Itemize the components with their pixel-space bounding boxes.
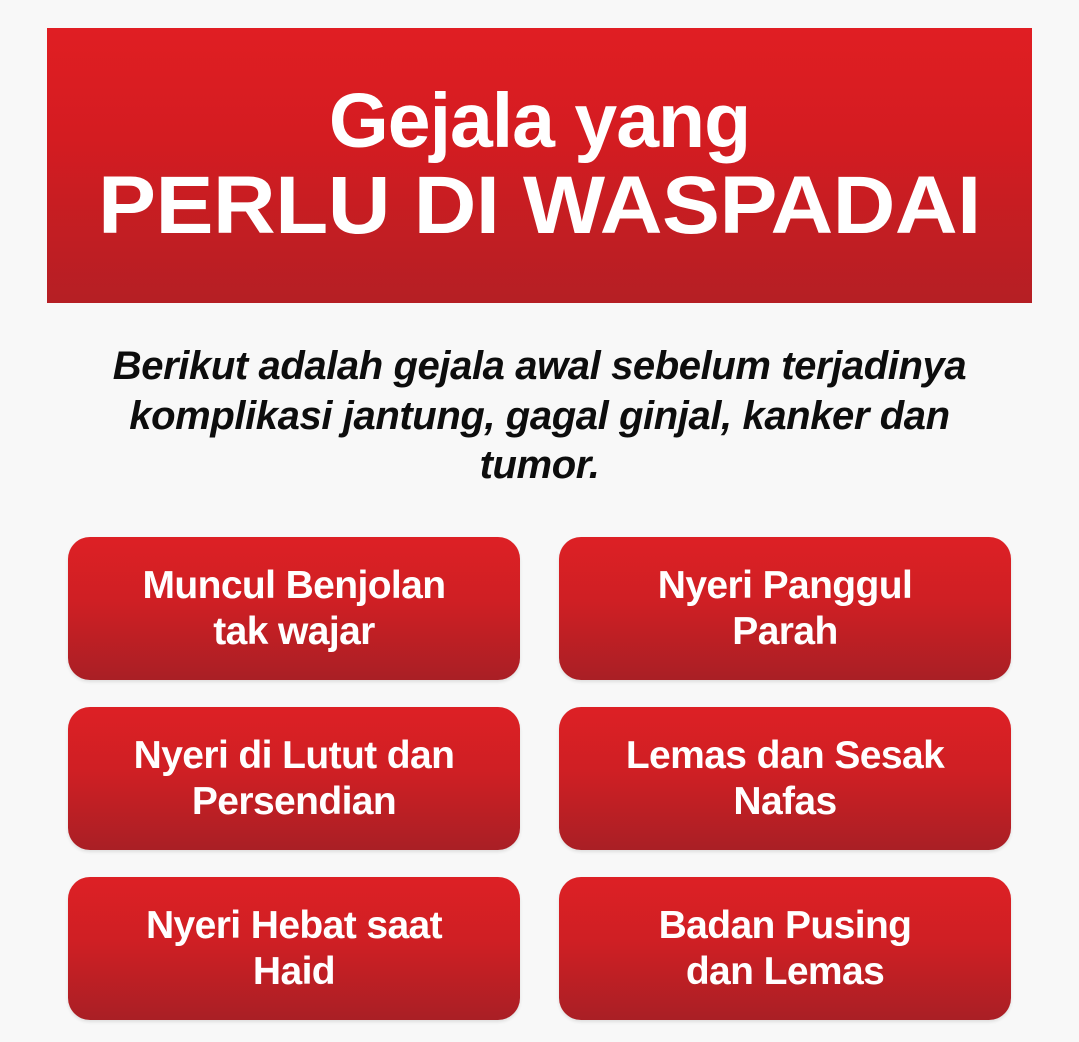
subtitle-text: Berikut adalah gejala awal sebelum terja… bbox=[90, 342, 990, 491]
symptom-card-label: Muncul Benjolan tak wajar bbox=[142, 563, 445, 653]
symptom-card: Muncul Benjolan tak wajar bbox=[68, 537, 520, 680]
poster-root: Gejala yang PERLU DI WASPADAI Berikut ad… bbox=[0, 0, 1079, 1042]
banner-title-main: PERLU DI WASPADAI bbox=[98, 165, 981, 247]
symptom-card-label: Nyeri Hebat saat Haid bbox=[146, 903, 442, 993]
symptom-card-label: Badan Pusing dan Lemas bbox=[659, 903, 912, 993]
symptom-card: Nyeri Hebat saat Haid bbox=[68, 877, 520, 1020]
symptom-card-label: Lemas dan Sesak Nafas bbox=[626, 733, 944, 823]
symptom-card: Badan Pusing dan Lemas bbox=[559, 877, 1011, 1020]
symptom-card-grid: Muncul Benjolan tak wajar Nyeri Panggul … bbox=[68, 537, 1011, 1020]
symptom-card: Nyeri Panggul Parah bbox=[559, 537, 1011, 680]
symptom-card: Nyeri di Lutut dan Persendian bbox=[68, 707, 520, 850]
banner-title-top: Gejala yang bbox=[329, 84, 750, 159]
symptom-card-label: Nyeri Panggul Parah bbox=[658, 563, 912, 653]
symptom-card: Lemas dan Sesak Nafas bbox=[559, 707, 1011, 850]
symptom-card-label: Nyeri di Lutut dan Persendian bbox=[134, 733, 455, 823]
header-banner: Gejala yang PERLU DI WASPADAI bbox=[47, 28, 1032, 303]
